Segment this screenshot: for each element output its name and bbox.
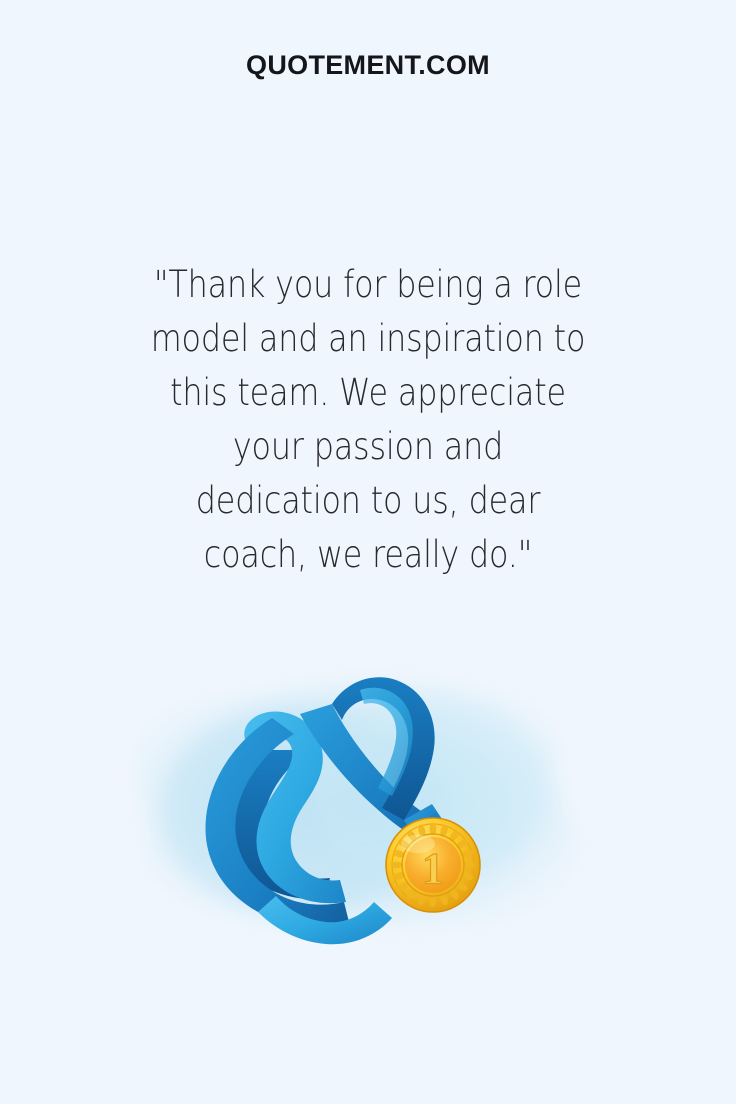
quote-text-block: "Thank you for being a role model and an… — [40, 258, 696, 582]
quote-line: model and an inspiration to — [86, 312, 650, 366]
site-brand-label: QUOTEMENT.COM — [246, 52, 490, 79]
quote-line: "Thank you for being a role — [86, 258, 650, 312]
quote-line: dedication to us, dear — [86, 474, 650, 528]
quote-line: coach, we really do." — [86, 528, 650, 582]
medal-illustration: 1 — [0, 630, 736, 970]
quote-card: QUOTEMENT.COM "Thank you for being a rol… — [0, 0, 736, 1104]
quote-line: this team. We appreciate — [86, 366, 650, 420]
gold-medal: 1 — [386, 818, 480, 912]
quote-line: your passion and — [86, 420, 650, 474]
watercolor-blob-shape — [135, 679, 576, 928]
site-header: QUOTEMENT.COM — [0, 52, 736, 79]
